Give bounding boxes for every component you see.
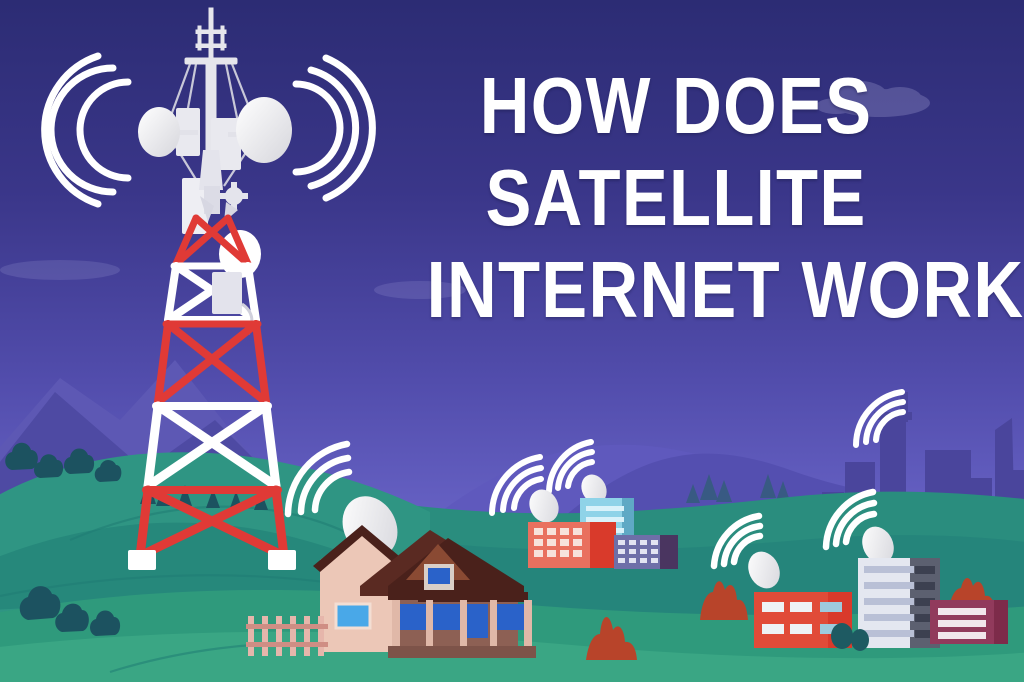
house-porch-floor [388, 646, 536, 658]
house-porch-roof [418, 592, 528, 602]
house-window-2 [430, 604, 460, 630]
illustration-scene [0, 0, 1024, 682]
house-window-3 [494, 604, 528, 630]
tower-equipment [199, 150, 223, 190]
house-dormer-window [428, 568, 450, 584]
tower-foot-right [268, 550, 296, 570]
tower-foot-left [128, 550, 156, 570]
banner-image: HOW DOES SATELLITE INTERNET WORK? [0, 0, 1024, 682]
tower-equipment-box [212, 272, 242, 314]
house-door [466, 604, 488, 638]
house-window-left [336, 604, 370, 628]
house-window-1 [400, 604, 426, 630]
